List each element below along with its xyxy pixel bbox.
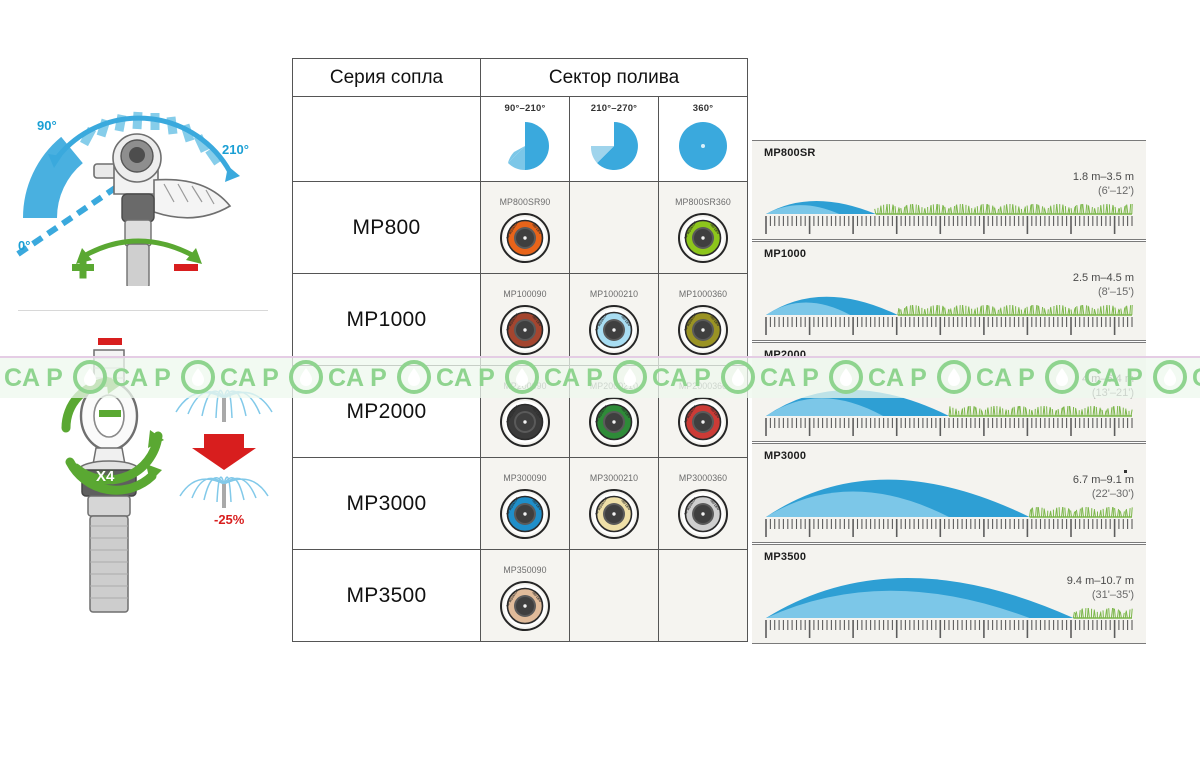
dot-artifact	[1124, 470, 1127, 473]
series-label: MP1000	[346, 308, 426, 331]
series-label: MP3500	[346, 584, 426, 607]
series-cell: MP800	[293, 182, 481, 274]
series-cell: MP3000	[293, 458, 481, 550]
nozzle-code-label: MP300090	[481, 467, 569, 483]
sector-col-210-270: 210°–270°	[570, 97, 659, 182]
table-row: MP2000MP200090 MP ROTATOR 360 DEG MP2000…	[293, 366, 748, 458]
nozzle-cell[interactable]: MP350090 MP ROTATOR 360 DEG	[481, 550, 570, 642]
nozzle-icon: MP ROTATOR 360 DEG	[498, 578, 552, 632]
nozzle-code-label: MP1000210	[570, 283, 658, 299]
nozzle-cell[interactable]: MP200090 MP ROTATOR 360 DEG	[481, 366, 570, 458]
series-label: MP2000	[346, 400, 426, 423]
radius-spray-graphic	[752, 442, 1146, 542]
watermark-line	[0, 356, 1200, 358]
nozzle-cell-empty	[570, 182, 659, 274]
nozzle-code-label: MP350090	[481, 559, 569, 575]
nozzle-code-label: MP3000210	[570, 467, 658, 483]
table-row: MP1000MP100090 MP ROTATOR 360 DEG MP1000…	[293, 274, 748, 366]
nozzle-icon: MP ROTATOR 360 DEG	[587, 486, 641, 540]
nozzle-icon: MP ROTATOR 360 DEG	[498, 210, 552, 264]
nozzle-code-label: MP2000210	[570, 375, 658, 391]
nozzle-icon: MP ROTATOR 360 DEG	[676, 210, 730, 264]
nozzle-icon: MP ROTATOR 360 DEG	[498, 394, 552, 448]
nozzle-cell[interactable]: MP100090 MP ROTATOR 360 DEG	[481, 274, 570, 366]
sector-icons-row: 90°–210° 210°–270° 360°	[293, 97, 748, 182]
x4-turns-label: X4	[96, 468, 114, 485]
svg-text:CA P: CA P	[1192, 364, 1200, 392]
radius-spray-graphic	[752, 139, 1146, 239]
header-sector: Сектор полива	[481, 59, 748, 97]
table-row: MP3500MP350090 MP ROTATOR 360 DEG	[293, 550, 748, 642]
sector-col-90-210: 90°–210°	[481, 97, 570, 182]
series-cell: MP1000	[293, 274, 481, 366]
nozzle-code-label: MP800SR360	[659, 191, 747, 207]
angle-90-label: 90°	[37, 118, 57, 133]
table-row: MP800MP800SR90 MP ROTATOR 360 DEG MP800S…	[293, 182, 748, 274]
series-label: MP800	[352, 216, 420, 239]
nozzle-cell[interactable]: MP3000360 MP ROTATOR 360 DEG	[659, 458, 748, 550]
nozzle-cell[interactable]: MP300090 MP ROTATOR 360 DEG	[481, 458, 570, 550]
angle-0-label: 0°	[18, 238, 30, 253]
pie-sector-210-270-icon	[586, 118, 642, 174]
radius-row: MP3000 6.7 m–9.1 m (22'–30')	[752, 443, 1146, 543]
radius-spray-graphic	[752, 240, 1146, 340]
left-illustrations-panel: 90° 210° 0°	[0, 0, 288, 762]
section-divider	[18, 310, 268, 311]
nozzle-icon: MP ROTATOR 360 DEG	[498, 302, 552, 356]
nozzle-icon: MP ROTATOR 360 DEG	[587, 394, 641, 448]
nozzle-icon: MP ROTATOR 360 DEG	[676, 394, 730, 448]
nozzle-icon: MP ROTATOR 360 DEG	[676, 486, 730, 540]
nozzle-cell[interactable]: MP800SR90 MP ROTATOR 360 DEG	[481, 182, 570, 274]
radius-row: MP1000 2.5 m–4.5 m (8'–15')	[752, 241, 1146, 341]
series-label: MP3000	[346, 492, 426, 515]
nozzle-icon: MP ROTATOR 360 DEG	[587, 302, 641, 356]
sector-label-210-270: 210°–270°	[570, 97, 658, 114]
nozzle-code-label: MP100090	[481, 283, 569, 299]
table-row: MP3000MP300090 MP ROTATOR 360 DEG MP3000…	[293, 458, 748, 550]
nozzle-series-table: Серия сопла Сектор полива 90°–210° 210°–…	[292, 58, 748, 644]
nozzle-code-label: MP200090	[481, 375, 569, 391]
reduction-percent-label: -25%	[214, 512, 244, 527]
nozzle-code-label: MP3000360	[659, 467, 747, 483]
nozzle-code-label: MP2000360	[659, 375, 747, 391]
angle-210-label: 210°	[222, 142, 249, 157]
nozzle-cell-empty	[570, 550, 659, 642]
table-header-row: Серия сопла Сектор полива	[293, 59, 748, 97]
nozzle-cell[interactable]: MP1000210 MP ROTATOR 360 DEG	[570, 274, 659, 366]
nozzle-cell[interactable]: MP800SR360 MP ROTATOR 360 DEG	[659, 182, 748, 274]
series-cell: MP3500	[293, 550, 481, 642]
nozzle-icon: MP ROTATOR 360 DEG	[676, 302, 730, 356]
sector-label-360: 360°	[659, 97, 747, 114]
sector-col-360: 360°	[659, 97, 748, 182]
sector-row-spacer	[293, 97, 481, 182]
circle-full-360-icon	[675, 118, 731, 174]
nozzle-icon: MP ROTATOR 360 DEG	[498, 486, 552, 540]
radius-row: MP800SR 1.8 m–3.5 m (6'–12')	[752, 140, 1146, 240]
nozzle-radius-adjust-illustration	[36, 336, 288, 616]
nozzle-cell[interactable]: MP1000360 MP ROTATOR 360 DEG	[659, 274, 748, 366]
nozzle-code-label: MP1000360	[659, 283, 747, 299]
header-series: Серия сопла	[293, 59, 481, 97]
nozzle-cell[interactable]: MP3000210 MP ROTATOR 360 DEG	[570, 458, 659, 550]
radius-row: MP3500 9.4 m–10.7 m (31'–35')	[752, 544, 1146, 644]
nozzle-code-label: MP800SR90	[481, 191, 569, 207]
sector-label-90-210: 90°–210°	[481, 97, 569, 114]
series-cell: MP2000	[293, 366, 481, 458]
radius-spray-graphic	[752, 543, 1146, 643]
nozzle-cell-empty	[659, 550, 748, 642]
nozzle-cell[interactable]: MP2000210 MP ROTATOR 360 DEG	[570, 366, 659, 458]
radius-panel: MP800SR 1.8 m–3.5 m (6'–12') MP1000 2.5 …	[752, 140, 1146, 646]
nozzle-cell[interactable]: MP2000360 MP ROTATOR 360 DEG	[659, 366, 748, 458]
pie-sector-90-210-icon	[497, 118, 553, 174]
